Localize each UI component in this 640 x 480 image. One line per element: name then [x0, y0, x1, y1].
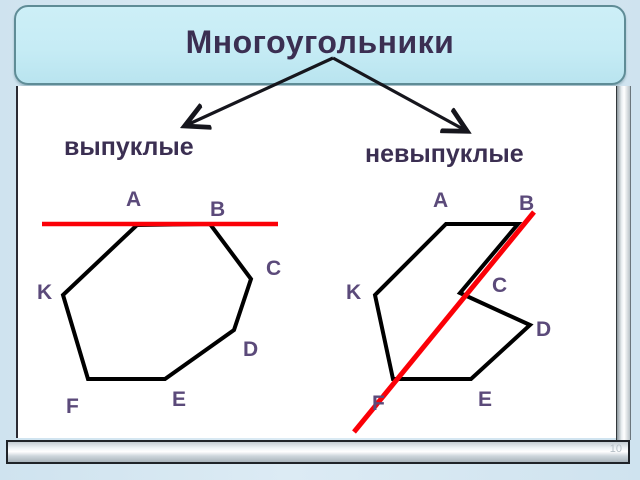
vertex-label-nonconvex-d: D: [536, 319, 551, 340]
vertex-label-nonconvex-a: A: [433, 190, 448, 211]
vertex-label-nonconvex-c: C: [492, 275, 507, 296]
vertex-label-nonconvex-f: F: [372, 393, 385, 414]
vertex-label-convex-k: K: [37, 282, 52, 303]
vertex-label-convex-c: C: [266, 258, 281, 279]
vertex-label-nonconvex-k: K: [346, 282, 361, 303]
vertex-label-convex-d: D: [243, 339, 258, 360]
slide-bottom-bar: [6, 440, 630, 464]
vertex-label-nonconvex-b: B: [519, 193, 534, 214]
vertex-label-convex-b: B: [210, 199, 225, 220]
vertex-label-nonconvex-e: E: [478, 389, 492, 410]
convex-polygon: [63, 224, 251, 379]
branch-arrow-right: [333, 58, 463, 129]
diagram-layer: [0, 0, 640, 480]
branch-arrow-left: [189, 58, 333, 124]
vertex-label-convex-a: A: [126, 189, 141, 210]
vertex-label-convex-e: E: [172, 389, 186, 410]
slide-canvas: Многоугольники выпуклые невыпуклые: [0, 0, 640, 480]
vertex-label-convex-f: F: [66, 396, 79, 417]
page-number: 10: [610, 443, 622, 455]
